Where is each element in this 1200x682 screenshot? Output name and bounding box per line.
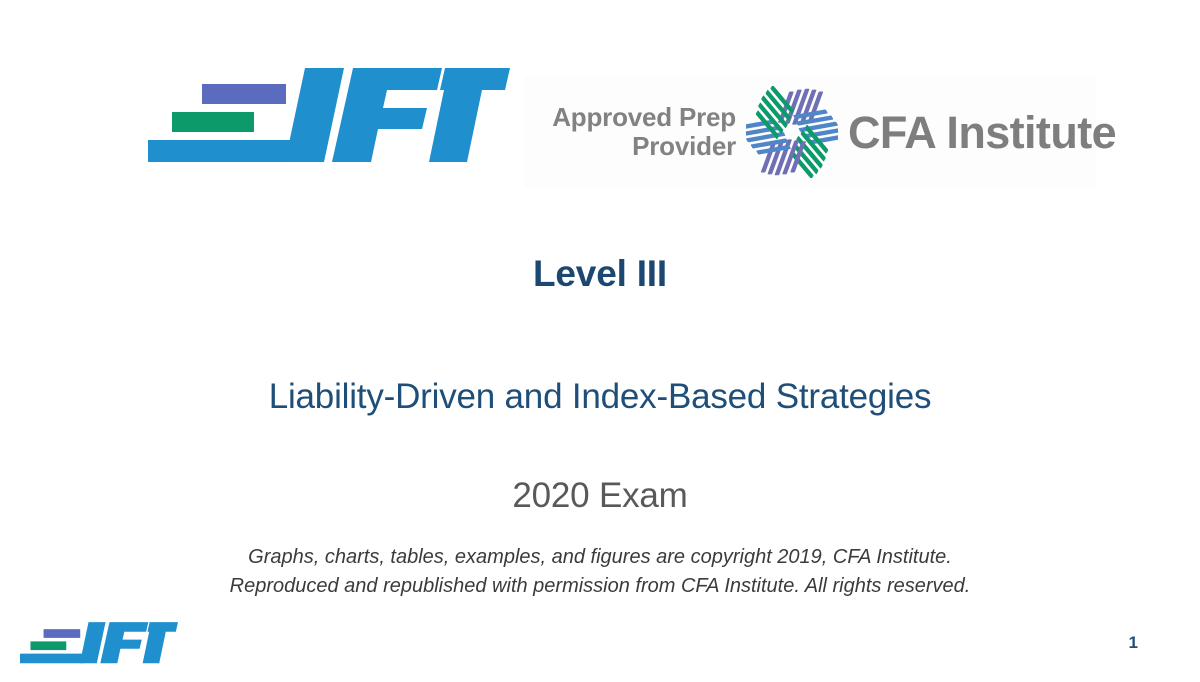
cfa-institute-lockup: Approved Prep Provider [524,76,1096,188]
copyright-line-2: Reproduced and republished with permissi… [0,572,1200,601]
cfa-pinwheel-icon [746,86,838,178]
ift-logo [148,62,510,174]
header-logo-row: Approved Prep Provider [0,52,1200,192]
exam-year: 2020 Exam [0,475,1200,517]
topic-title: Liability-Driven and Index-Based Strateg… [0,376,1200,418]
cfa-approved-line-2: Provider [524,132,736,161]
cfa-approved-prep-provider-text: Approved Prep Provider [524,103,736,161]
cfa-approved-line-1: Approved Prep [524,103,736,132]
copyright-notice: Graphs, charts, tables, examples, and fi… [0,543,1200,601]
level-title: Level III [0,252,1200,296]
slide-canvas: Approved Prep Provider [0,0,1200,682]
title-block: Level III Liability-Driven and Index-Bas… [0,252,1200,517]
page-number: 1 [1129,634,1138,651]
cfa-institute-wordmark: CFA Institute [848,110,1116,155]
footer-ift-logo [20,619,178,669]
copyright-line-1: Graphs, charts, tables, examples, and fi… [0,543,1200,572]
